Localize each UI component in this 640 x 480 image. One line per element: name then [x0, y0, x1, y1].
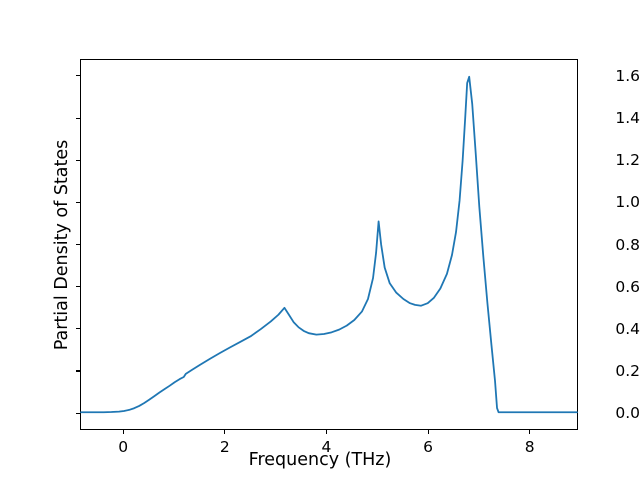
y-tick-label: 0.0 — [570, 404, 640, 422]
y-tick-label: 1.4 — [570, 109, 640, 127]
y-tick-label: 0.8 — [570, 236, 640, 254]
y-tick-label: 1.0 — [570, 193, 640, 211]
y-tick-mark — [76, 160, 80, 161]
plot-area — [80, 59, 578, 430]
y-tick-label: 0.6 — [570, 278, 640, 296]
y-tick-label: 0.2 — [570, 362, 640, 380]
x-tick-mark — [529, 430, 530, 434]
x-tick-mark — [326, 430, 327, 434]
x-tick-mark — [428, 430, 429, 434]
y-tick-mark — [76, 328, 80, 329]
curve-layer — [81, 60, 577, 429]
y-axis-label: Partial Density of States — [52, 115, 72, 375]
y-tick-mark — [76, 370, 80, 371]
y-tick-label: 1.2 — [570, 151, 640, 169]
y-tick-label: 0.4 — [570, 320, 640, 338]
dos-line-series — [81, 77, 577, 412]
y-tick-mark — [76, 75, 80, 76]
y-tick-mark — [76, 118, 80, 119]
x-axis-label: Frequency (THz) — [0, 450, 640, 470]
y-tick-mark — [76, 286, 80, 287]
y-tick-mark — [76, 202, 80, 203]
y-tick-mark — [76, 244, 80, 245]
y-axis-label-wrap: Partial Density of States — [28, 244, 29, 245]
y-tick-mark — [76, 413, 80, 414]
figure-canvas: 0.00.20.40.60.81.01.21.41.6 02468 Freque… — [0, 0, 640, 480]
y-tick-label: 1.6 — [570, 67, 640, 85]
x-tick-mark — [224, 430, 225, 434]
x-tick-mark — [123, 430, 124, 434]
